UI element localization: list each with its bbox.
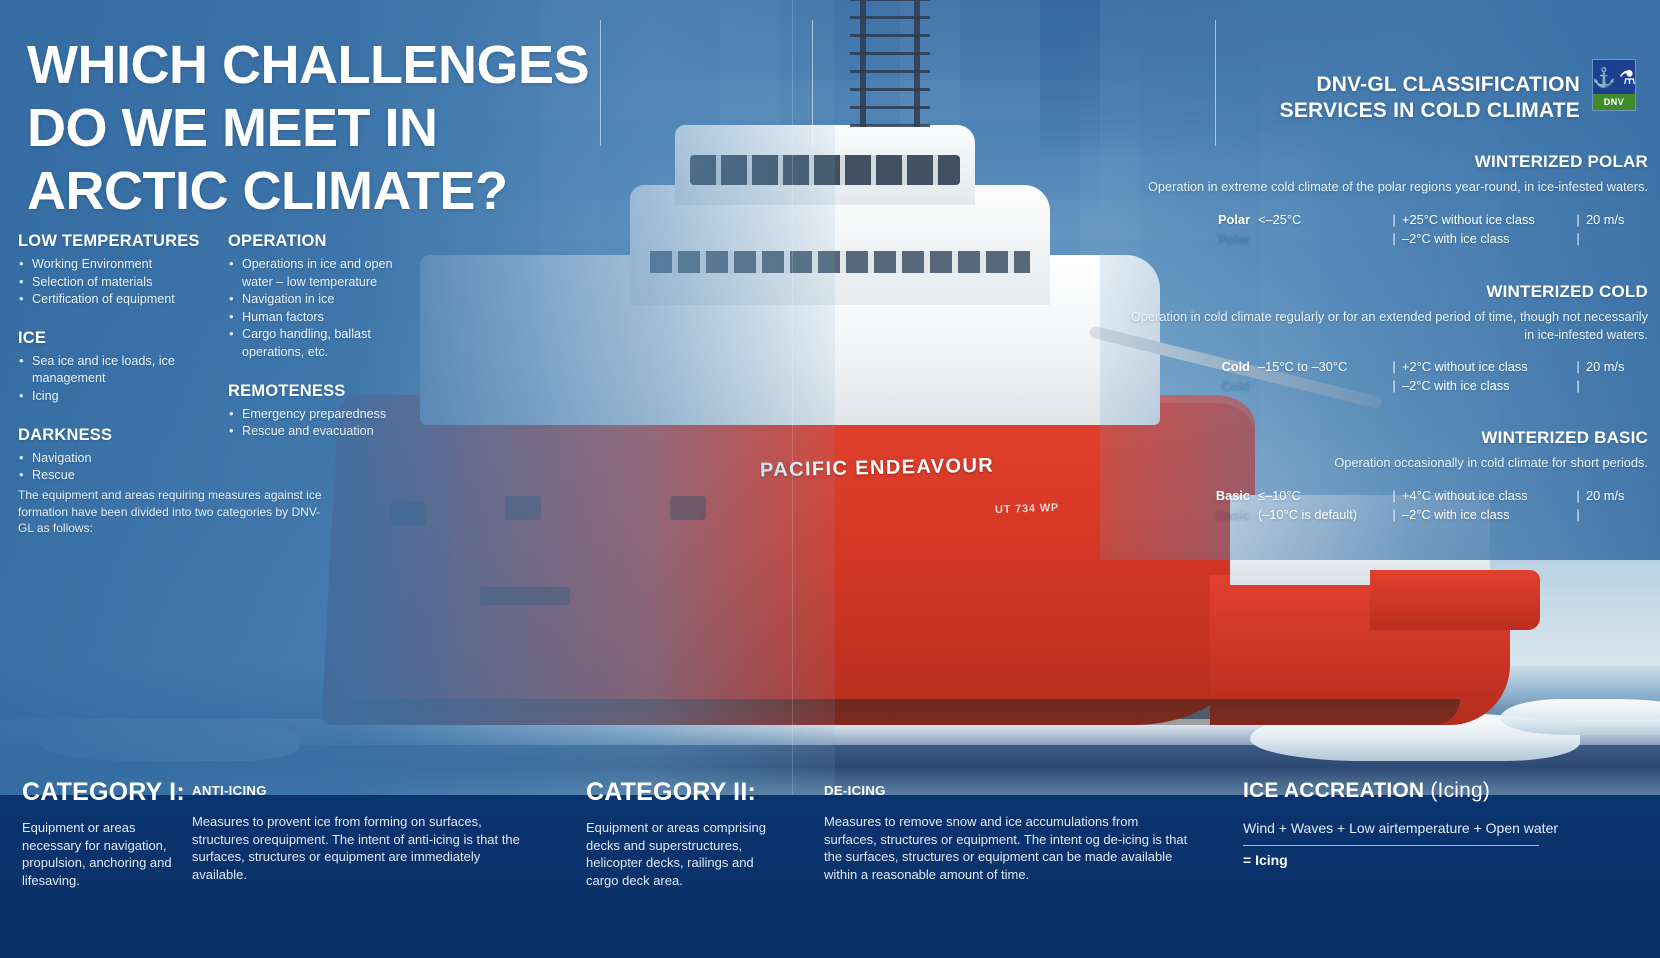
de-icing-body: Measures to remove snow and ice accumula… — [824, 813, 1194, 883]
ice-accreation-title-sub: (Icing) — [1430, 779, 1490, 802]
ice-accreation-formula: Wind + Waves + Low airtemperature + Open… — [1243, 820, 1558, 836]
infographic-poster: PACIFIC ENDEAVOUR UT 734 WP WHICH CHALLE… — [0, 0, 1660, 958]
category-2-body: Equipment or areas comprising decks and … — [586, 819, 766, 889]
ice-accreation-rule — [1243, 845, 1539, 846]
de-icing-title: DE-ICING — [824, 783, 886, 798]
anti-icing-title: ANTI-ICING — [192, 783, 267, 798]
bottom-divider-1 — [600, 20, 601, 146]
ice-accreation-title-main: ICE ACCREATION — [1243, 779, 1424, 802]
category-2-title: CATEGORY II: — [586, 778, 756, 807]
category-1-body: Equipment or areas necessary for navigat… — [22, 819, 182, 889]
bottom-divider-2 — [812, 20, 813, 146]
category-1-title: CATEGORY I: — [22, 778, 185, 807]
ice-accreation-title: ICE ACCREATION (Icing) — [1243, 779, 1490, 803]
ice-accreation-result: = Icing — [1243, 852, 1288, 868]
anti-icing-body: Measures to provent ice from forming on … — [192, 813, 532, 883]
bottom-divider-3 — [1215, 20, 1216, 146]
bottom-content-layer: CATEGORY I: Equipment or areas necessary… — [0, 0, 1660, 958]
